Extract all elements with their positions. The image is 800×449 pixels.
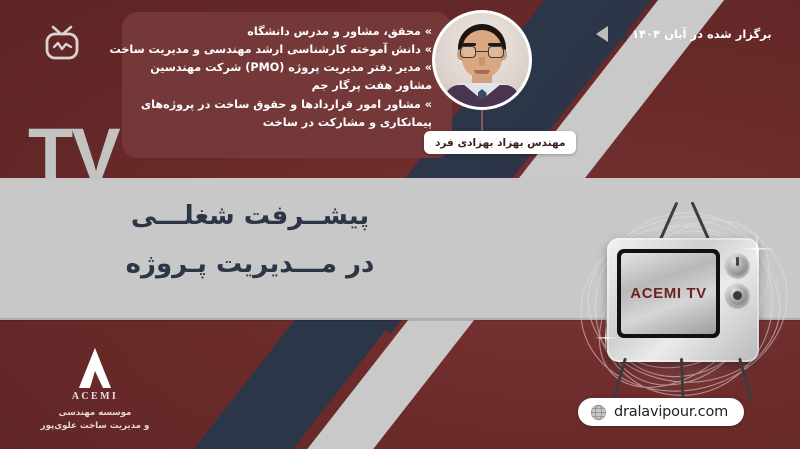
glasses-lens-right — [488, 46, 504, 58]
speaker-portrait — [435, 13, 529, 107]
speaker-avatar — [432, 10, 532, 110]
bullet-marker: » — [425, 61, 432, 74]
page-title: پیشــرفت شغلـــی در مـــدیریت پـروژه — [70, 192, 430, 288]
play-triangle-gray-icon — [596, 26, 608, 42]
acemi-logo: ACEMI موسسه مهندسی و مدیریت ساخت علوی‌پو… — [36, 346, 154, 434]
credential-item: » دانش آموخته کارشناسی ارشد مهندسی و مدی… — [136, 41, 432, 59]
sparkle-icon — [594, 326, 618, 350]
website-url-text: dralavipour.com — [614, 404, 728, 420]
glasses-bridge — [476, 51, 488, 52]
acemi-logo-subtitle-1: موسسه مهندسی — [36, 407, 154, 420]
credential-text: دانش آموخته کارشناسی ارشد مهندسی و مدیری… — [110, 43, 421, 56]
tv-knob-notch — [736, 257, 739, 266]
acemi-logo-subtitle-2: و مدیریت ساخت علوی‌پور — [36, 420, 154, 433]
website-badge[interactable]: dralavipour.com — [578, 398, 744, 426]
portrait-mouth — [474, 70, 490, 74]
globe-icon — [590, 404, 607, 421]
credential-text: مشاور امور قراردادها و حقوق ساخت در پروژ… — [141, 98, 432, 129]
acemi-logo-text: ACEMI — [36, 391, 154, 402]
tv-knob-dot — [733, 291, 742, 300]
portrait-nose — [479, 57, 485, 66]
speaker-name-badge: مهندس بهزاد بهزادی فرد — [424, 131, 576, 154]
credential-text: مدیر دفتر مدیریت پروژه (PMO) شرکت مهندسی… — [150, 61, 432, 92]
tv-body: ACEMI TV — [607, 238, 759, 362]
title-line-1: پیشــرفت شغلـــی — [70, 192, 430, 240]
tv-knob-lower[interactable] — [726, 284, 749, 307]
title-line-2: در مـــدیریت پـروژه — [70, 240, 430, 288]
tv-screen-text: ACEMI TV — [630, 285, 706, 302]
event-date-banner: برگزار شده در آبان ۱۴۰۴ — [596, 26, 772, 42]
bullet-marker: » — [425, 98, 432, 111]
credential-item: » محقق، مشاور و مدرس دانشگاه — [136, 23, 432, 41]
retro-tv-illustration: ACEMI TV — [570, 200, 800, 410]
tv-watermark-text: TV — [28, 118, 119, 192]
bullet-marker: » — [425, 43, 432, 56]
glasses-lens-left — [460, 46, 476, 58]
tv-screen-frame: ACEMI TV — [617, 249, 720, 338]
bullet-marker: » — [425, 25, 432, 38]
speaker-name-text: مهندس بهزاد بهزادی فرد — [435, 137, 565, 149]
play-triangle-navy-icon — [614, 26, 626, 42]
acemi-logo-mark — [67, 346, 123, 390]
tv-screen: ACEMI TV — [621, 253, 716, 334]
credentials-card: » محقق، مشاور و مدرس دانشگاه » دانش آموخ… — [122, 12, 452, 158]
credential-item: » مشاور امور قراردادها و حقوق ساخت در پر… — [136, 96, 432, 132]
event-date-text: برگزار شده در آبان ۱۴۰۴ — [632, 27, 772, 41]
credential-item: » مدیر دفتر مدیریت پروژه (PMO) شرکت مهند… — [136, 59, 432, 95]
webinar-poster: TV » محقق، مشاور و مدرس دانشگاه » دانش آ… — [0, 0, 800, 449]
igtv-icon — [40, 22, 84, 66]
sparkle-icon — [740, 232, 774, 266]
credential-text: محقق، مشاور و مدرس دانشگاه — [247, 25, 421, 38]
